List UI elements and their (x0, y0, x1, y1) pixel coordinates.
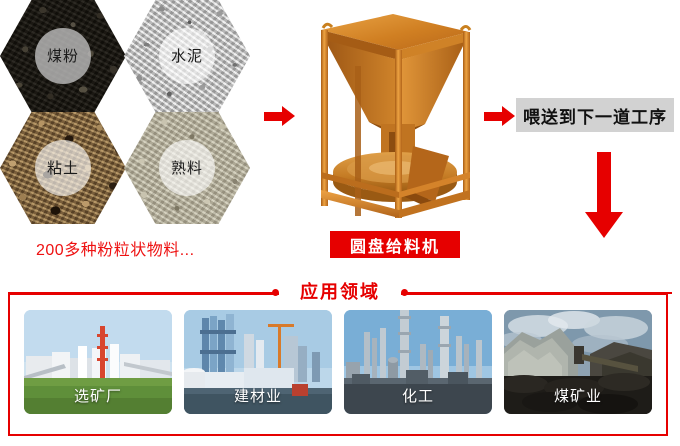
material-label-cement: 水泥 (159, 28, 215, 84)
application-card-building-materials[interactable]: 建材业 (184, 310, 332, 414)
next-step-label: 喂送到下一道工序 (516, 98, 674, 132)
arrow-shaft (264, 112, 283, 121)
arrow-shaft (484, 112, 503, 121)
arrow-shaft (597, 152, 611, 214)
material-label-coal-powder: 煤粉 (35, 28, 91, 84)
application-card-label-chemical-industry: 化工 (344, 385, 492, 406)
down-arrow-icon-to-applications (585, 152, 623, 238)
title-rule-right (404, 292, 672, 294)
application-card-chemical-industry[interactable]: 化工 (344, 310, 492, 414)
machine-caption-label: 圆盘给料机 (330, 231, 460, 258)
process-flow-section: 煤粉 水泥 粘土 熟料 200多种粉粒状物料... (0, 0, 680, 275)
disc-feeder-machine-image (303, 6, 483, 224)
material-hexagon-cement: 水泥 (124, 0, 250, 112)
application-card-ore-dressing-plant[interactable]: 选矿厂 (24, 310, 172, 414)
materials-caption: 200多种粉粒状物料... (36, 236, 195, 260)
arrow-head (282, 106, 295, 126)
applications-card-list: 选矿厂 (8, 310, 668, 430)
material-hexagon-clay: 粘土 (0, 112, 126, 224)
material-label-clay: 粘土 (35, 140, 91, 196)
title-dot-left (272, 289, 279, 296)
application-card-label-building-materials: 建材业 (184, 385, 332, 406)
application-card-coal-mining[interactable]: 煤矿业 (504, 310, 652, 414)
material-label-clinker: 熟料 (159, 140, 215, 196)
material-hexagon-cluster: 煤粉 水泥 粘土 熟料 (0, 0, 260, 232)
applications-title: 应用领域 (285, 280, 395, 304)
application-card-label-coal-mining: 煤矿业 (504, 385, 652, 406)
arrow-head (502, 106, 515, 126)
right-arrow-icon-materials-to-machine (264, 106, 295, 126)
title-rule-left (8, 292, 276, 294)
title-dot-right (401, 289, 408, 296)
material-hexagon-coal-powder: 煤粉 (0, 0, 126, 112)
application-card-label-ore-dressing-plant: 选矿厂 (24, 385, 172, 406)
disc-feeder-illustration (303, 6, 483, 224)
arrow-head (585, 212, 623, 238)
material-hexagon-clinker: 熟料 (124, 112, 250, 224)
right-arrow-icon-machine-to-next-step (484, 106, 515, 126)
